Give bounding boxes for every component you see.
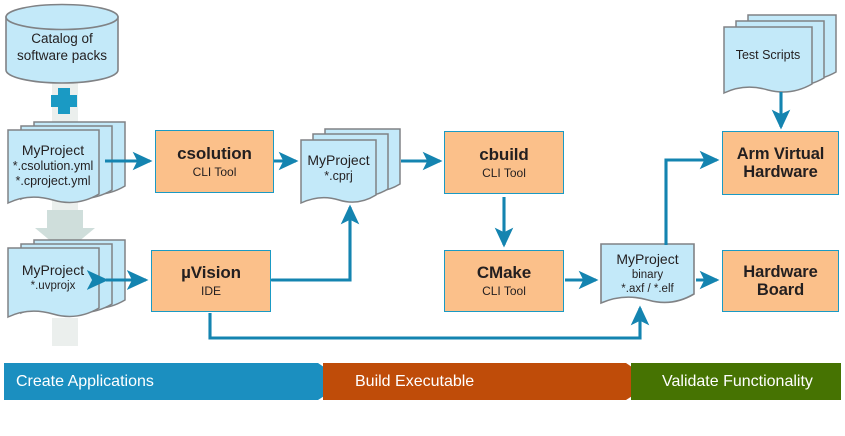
phase-build-executable[interactable]: Build Executable — [355, 363, 474, 400]
avh-title-line2: Hardware — [743, 163, 817, 181]
avh-title-line1: Arm Virtual — [737, 145, 825, 163]
arrow-binary-to-avh — [666, 160, 717, 245]
board-title-line1: Hardware — [743, 263, 817, 281]
csolution-subtitle: CLI Tool — [193, 166, 237, 180]
hardware-board-box[interactable]: Hardware Board — [722, 250, 839, 312]
binary-document-shape — [601, 244, 694, 303]
phase-validate-functionality[interactable]: Validate Functionality — [662, 363, 813, 400]
phase-create-applications[interactable]: Create Applications — [16, 363, 154, 400]
uvision-ide-box[interactable]: µVision IDE — [151, 250, 271, 312]
cbuild-title: cbuild — [479, 145, 528, 164]
diagram-canvas: Catalog of software packs MyProject *.cs… — [0, 0, 845, 436]
cprj-document-stack-shape — [301, 129, 400, 203]
cbuild-tool-box[interactable]: cbuild CLI Tool — [444, 131, 564, 194]
board-title-line2: Board — [757, 281, 804, 299]
catalog-label: Catalog of software packs — [4, 30, 120, 65]
cmake-title: CMake — [477, 263, 531, 282]
test-scripts-document-stack-shape — [724, 15, 836, 93]
catalog-label-line1: Catalog of — [4, 30, 120, 47]
uvision-subtitle: IDE — [201, 285, 221, 299]
uvision-title: µVision — [181, 263, 241, 282]
csolution-title: csolution — [177, 144, 252, 163]
arrow-uvision-cprj-feedback — [272, 207, 350, 280]
phase-create-applications-label: Create Applications — [16, 374, 154, 390]
arrow-uvision-to-binary — [210, 308, 640, 338]
phase-build-executable-label: Build Executable — [355, 374, 474, 390]
cmake-tool-box[interactable]: CMake CLI Tool — [444, 250, 564, 312]
csolution-tool-box[interactable]: csolution CLI Tool — [155, 130, 274, 193]
cbuild-subtitle: CLI Tool — [482, 167, 526, 181]
arm-virtual-hardware-box[interactable]: Arm Virtual Hardware — [722, 131, 839, 195]
phase-validate-functionality-label: Validate Functionality — [662, 374, 813, 390]
cmake-subtitle: CLI Tool — [482, 285, 526, 299]
catalog-label-line2: software packs — [4, 47, 120, 64]
